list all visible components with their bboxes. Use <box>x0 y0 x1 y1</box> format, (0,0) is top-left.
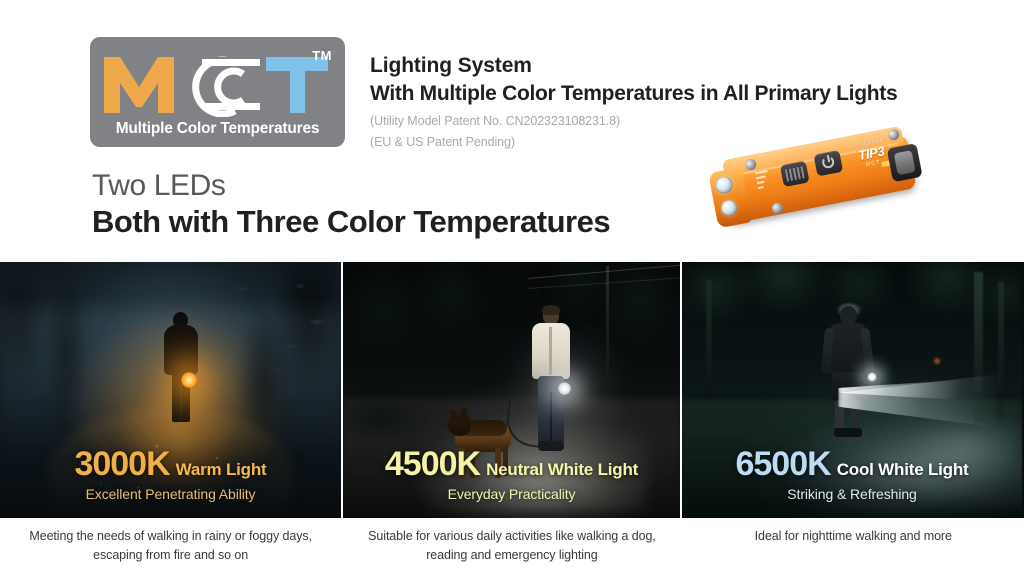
panel-6500k[interactable]: 6500K Cool White Light Striking & Refres… <box>682 262 1022 518</box>
product-photo-flashlight: NITECORE TIP3 MCT <box>706 122 936 244</box>
mct-logo: TM Multiple Color Temperatures <box>90 37 345 147</box>
headline-line-1: Two LEDs <box>92 168 610 203</box>
kelvin-value-6500k: 6500K <box>735 447 830 481</box>
panel-4500k-caption: 4500K Neutral White Light Everyday Pract… <box>343 447 680 502</box>
flashlight-illustration: NITECORE TIP3 MCT <box>696 101 945 265</box>
footer-cell-2: Suitable for various daily activities li… <box>341 518 682 576</box>
marketing-page: TM Multiple Color Temperatures Lighting … <box>0 0 1024 576</box>
footer-cell-1: Meeting the needs of walking in rainy or… <box>0 518 341 576</box>
top-section: TM Multiple Color Temperatures Lighting … <box>0 0 1024 262</box>
light-subtitle-4500k: Everyday Practicality <box>343 486 680 502</box>
panel-6500k-caption: 6500K Cool White Light Striking & Refres… <box>682 447 1022 502</box>
figure-walker-silhouette <box>160 312 202 422</box>
footer-caption-3000k: Meeting the needs of walking in rainy or… <box>21 527 321 565</box>
color-temperature-panels: 3000K Warm Light Excellent Penetrating A… <box>0 262 1024 518</box>
panel-3000k-caption: 3000K Warm Light Excellent Penetrating A… <box>0 447 341 502</box>
footer-captions: Meeting the needs of walking in rainy or… <box>0 518 1024 576</box>
figure-man-with-dog <box>528 306 574 468</box>
figure-night-walker <box>821 306 875 436</box>
power-icon <box>821 155 835 169</box>
headline-block: Two LEDs Both with Three Color Temperatu… <box>92 168 610 241</box>
headline-line-2: Both with Three Color Temperatures <box>92 203 610 240</box>
trademark-symbol: TM <box>312 48 332 63</box>
light-name-3000k: Warm Light <box>176 460 267 480</box>
light-subtitle-3000k: Excellent Penetrating Ability <box>0 486 341 502</box>
light-name-4500k: Neutral White Light <box>486 460 638 480</box>
mode-button-grill-icon <box>785 166 805 181</box>
warm-light-source <box>181 372 197 388</box>
mct-logo-letters <box>90 43 345 117</box>
kelvin-value-3000k: 3000K <box>74 447 169 481</box>
neutral-light-source <box>558 382 571 395</box>
logo-tagline: Multiple Color Temperatures <box>90 120 345 138</box>
footer-caption-6500k: Ideal for nighttime walking and more <box>755 527 952 546</box>
footer-caption-4500k: Suitable for various daily activities li… <box>362 527 662 565</box>
light-subtitle-6500k: Striking & Refreshing <box>682 486 1022 502</box>
panel-3000k[interactable]: 3000K Warm Light Excellent Penetrating A… <box>0 262 341 518</box>
kelvin-value-4500k: 4500K <box>385 447 480 481</box>
header-line-1: Lighting System <box>370 52 970 80</box>
footer-cell-3: Ideal for nighttime walking and more <box>683 518 1024 576</box>
light-name-6500k: Cool White Light <box>837 460 969 480</box>
header-line-2: With Multiple Color Temperatures in All … <box>370 80 970 108</box>
panel-4500k[interactable]: 4500K Neutral White Light Everyday Pract… <box>341 262 682 518</box>
